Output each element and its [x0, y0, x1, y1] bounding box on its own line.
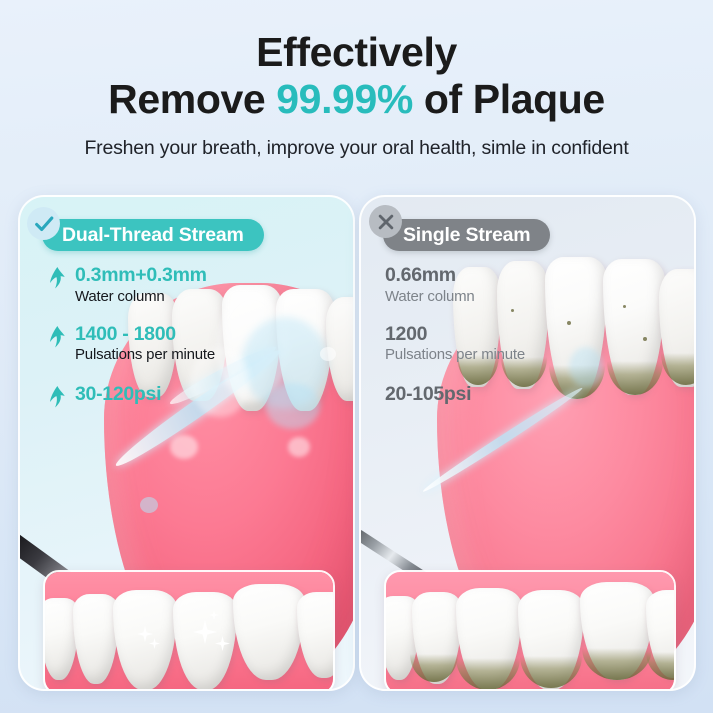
spec-label: Pulsations per minute — [385, 346, 633, 365]
up-arrow-icon — [45, 266, 67, 290]
headline-line-1: Effectively — [0, 30, 713, 74]
water-splash — [170, 435, 198, 459]
spec-item: 0.3mm+0.3mm Water column — [42, 265, 292, 307]
spec-value: 20-105psi — [385, 384, 633, 406]
spec-item: 30-120psi — [42, 384, 292, 406]
headline-percentage: 99.99% — [276, 76, 413, 122]
up-arrow-icon — [45, 325, 67, 349]
spec-label: Water column — [75, 288, 292, 307]
clean-teeth-illustration — [45, 572, 333, 691]
header: Effectively Remove 99.99% of Plaque Fres… — [0, 0, 713, 160]
up-arrow-icon — [45, 385, 67, 409]
headline-line-2: Remove 99.99% of Plaque — [0, 74, 713, 124]
spec-item: 20-105psi — [383, 384, 633, 406]
cross-icon — [369, 205, 402, 238]
spec-label: Water column — [385, 288, 633, 307]
spec-value: 1400 - 1800 — [75, 324, 292, 346]
comparison-panels: Dual-Thread Stream 0.3mm+0.3mm Water col… — [0, 195, 713, 693]
spec-value: 1200 — [385, 324, 633, 346]
inset-card-plaque-result — [384, 570, 676, 691]
plaque-teeth-illustration — [386, 572, 674, 691]
water-droplet — [140, 497, 158, 513]
header-subtitle: Freshen your breath, improve your oral h… — [0, 137, 713, 160]
spec-item: 0.66mm Water column — [383, 265, 633, 307]
spec-value: 30-120psi — [75, 384, 292, 406]
inset-card-clean-result — [43, 570, 335, 691]
badge-single-stream: Single Stream — [383, 219, 550, 251]
water-droplet — [320, 347, 336, 361]
plaque-speck — [643, 337, 647, 341]
spec-value: 0.3mm+0.3mm — [75, 265, 292, 287]
badge-dual-thread-stream: Dual-Thread Stream — [42, 219, 264, 251]
panel-single-stream: Single Stream 0.66mm Water column 1200 P… — [359, 195, 696, 691]
spec-list-dual-thread: 0.3mm+0.3mm Water column 1400 - 1800 Pul… — [42, 265, 292, 423]
spec-label: Pulsations per minute — [75, 346, 292, 365]
check-icon — [27, 207, 60, 240]
headline-suffix: of Plaque — [413, 76, 605, 122]
spec-list-single-stream: 0.66mm Water column 1200 Pulsations per … — [383, 265, 633, 423]
water-splash — [288, 437, 310, 457]
panel-dual-thread-stream: Dual-Thread Stream 0.3mm+0.3mm Water col… — [18, 195, 355, 691]
headline-prefix: Remove — [108, 76, 276, 122]
spec-item: 1200 Pulsations per minute — [383, 324, 633, 366]
spec-value: 0.66mm — [385, 265, 633, 287]
spec-item: 1400 - 1800 Pulsations per minute — [42, 324, 292, 366]
